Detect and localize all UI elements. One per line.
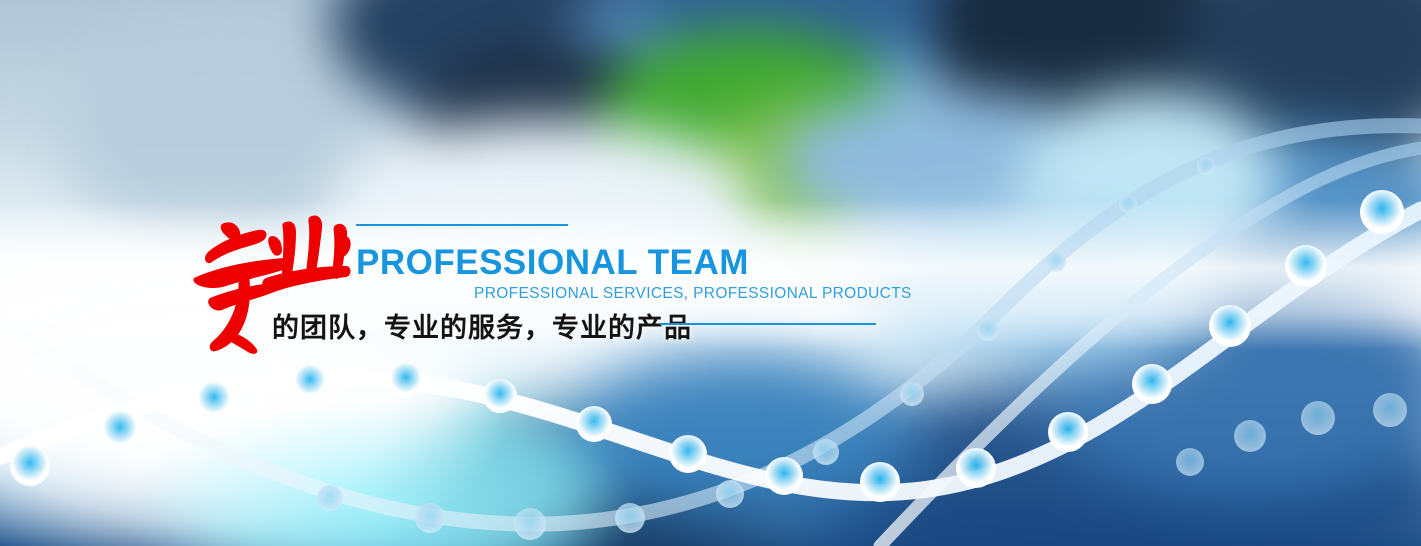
page-subtitle: PROFESSIONAL SERVICES, PROFESSIONAL PROD… [474,285,912,303]
top-divider-rule [356,224,568,226]
tagline-chinese: 的团队，专业的服务，专业的产品 [272,306,692,345]
professional-team-banner: PROFESSIONAL TEAM PROFESSIONAL SERVICES,… [0,0,1421,546]
lower-blob-blue-3 [860,220,1220,370]
page-title: PROFESSIONAL TEAM [356,243,749,283]
bottom-divider-rule [660,323,876,325]
lower-blob-mid-2 [560,350,920,520]
